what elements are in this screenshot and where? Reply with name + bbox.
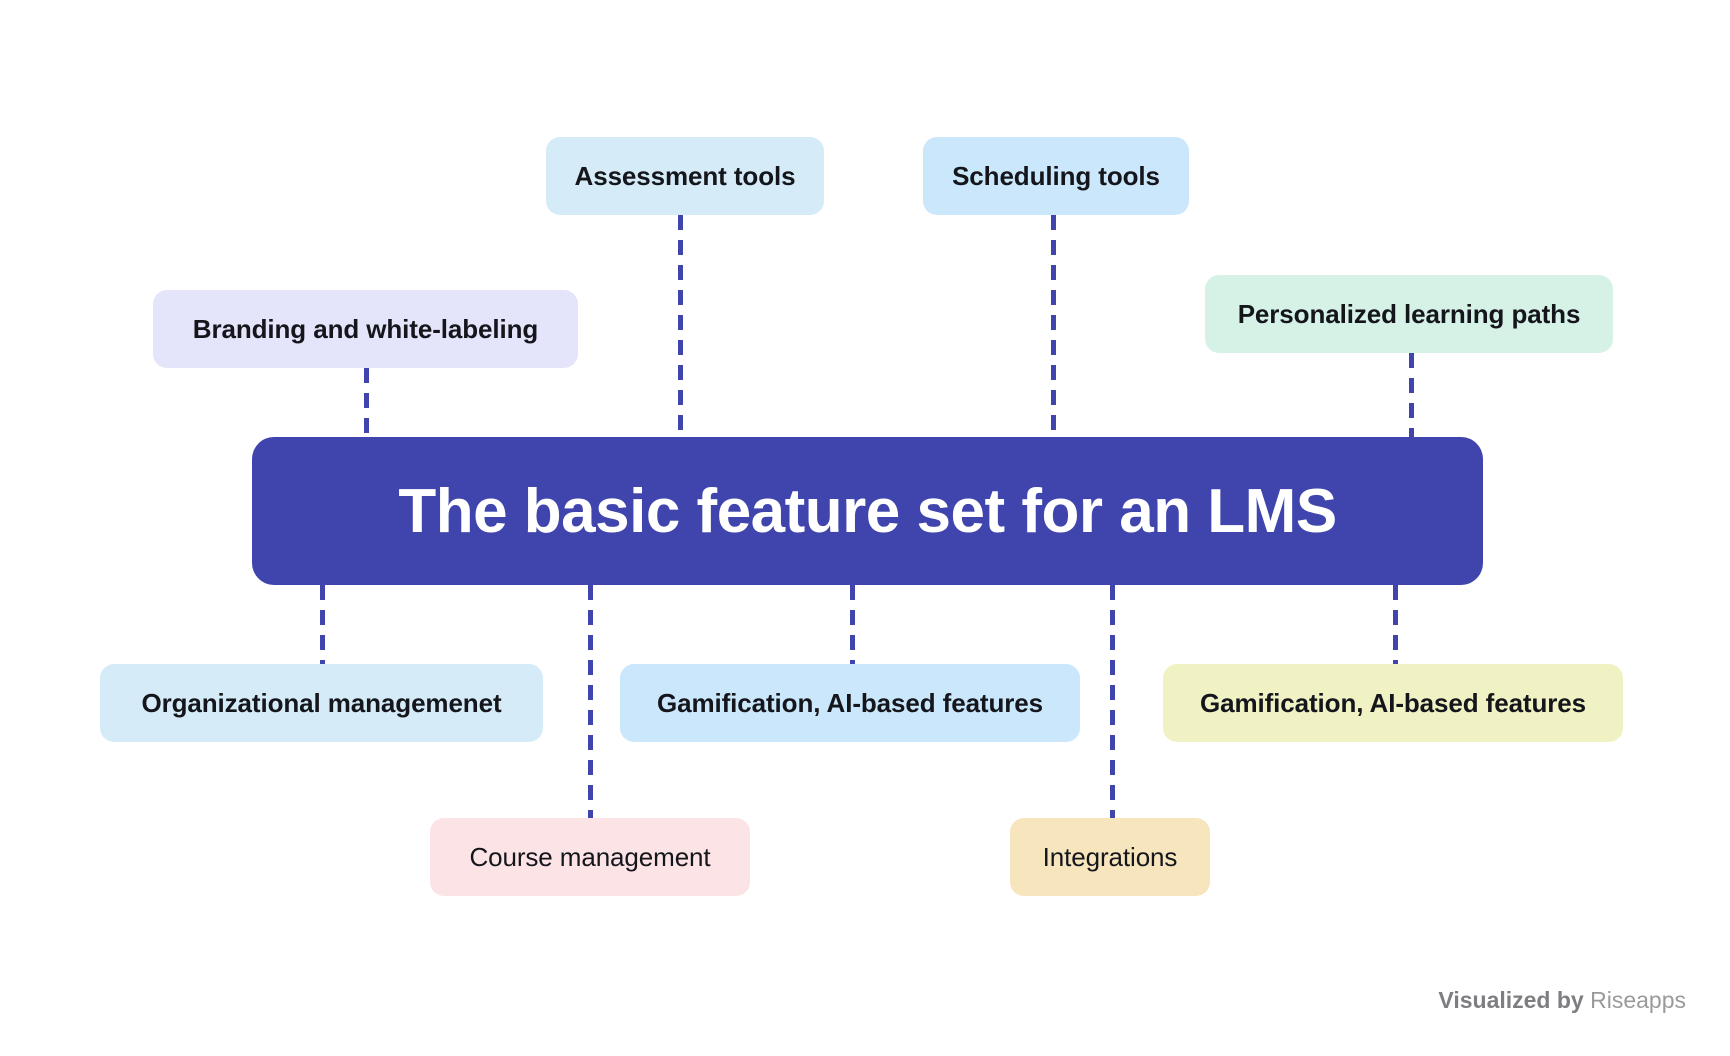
connector-integrations — [1110, 585, 1115, 818]
node-branding-and-white-labeling[interactable]: Branding and white-labeling — [153, 290, 578, 368]
node-label: Assessment tools — [575, 161, 796, 192]
node-label: Organizational managemenet — [141, 688, 501, 719]
node-label: Course management — [469, 842, 710, 873]
connector-gamification-ai-based-features-yellow — [1393, 585, 1398, 664]
node-gamification-ai-based-features-blue[interactable]: Gamification, AI-based features — [620, 664, 1080, 742]
connector-course-management — [588, 585, 593, 818]
diagram-canvas: Assessment toolsScheduling toolsBranding… — [0, 0, 1730, 1056]
connector-personalized-learning-paths — [1409, 353, 1414, 437]
center-node[interactable]: The basic feature set for an LMS — [252, 437, 1483, 585]
node-label: Branding and white-labeling — [193, 314, 538, 345]
attribution-prefix: Visualized by — [1438, 987, 1583, 1013]
node-assessment-tools[interactable]: Assessment tools — [546, 137, 824, 215]
node-label: Scheduling tools — [952, 161, 1160, 192]
node-integrations[interactable]: Integrations — [1010, 818, 1210, 896]
connector-scheduling-tools — [1051, 215, 1056, 437]
attribution: Visualized by Riseapps — [1438, 987, 1686, 1014]
node-label: Gamification, AI-based features — [657, 688, 1043, 719]
connector-assessment-tools — [678, 215, 683, 437]
node-scheduling-tools[interactable]: Scheduling tools — [923, 137, 1189, 215]
node-label: Integrations — [1043, 842, 1178, 873]
node-label: Personalized learning paths — [1238, 299, 1581, 330]
center-node-title: The basic feature set for an LMS — [398, 476, 1336, 547]
connector-gamification-ai-based-features-blue — [850, 585, 855, 664]
node-personalized-learning-paths[interactable]: Personalized learning paths — [1205, 275, 1613, 353]
node-course-management[interactable]: Course management — [430, 818, 750, 896]
node-label: Gamification, AI-based features — [1200, 688, 1586, 719]
connector-branding-and-white-labeling — [364, 368, 369, 437]
node-organizational-managemenet[interactable]: Organizational managemenet — [100, 664, 543, 742]
connector-organizational-managemenet — [320, 585, 325, 664]
attribution-brand: Riseapps — [1590, 987, 1686, 1013]
node-gamification-ai-based-features-yellow[interactable]: Gamification, AI-based features — [1163, 664, 1623, 742]
